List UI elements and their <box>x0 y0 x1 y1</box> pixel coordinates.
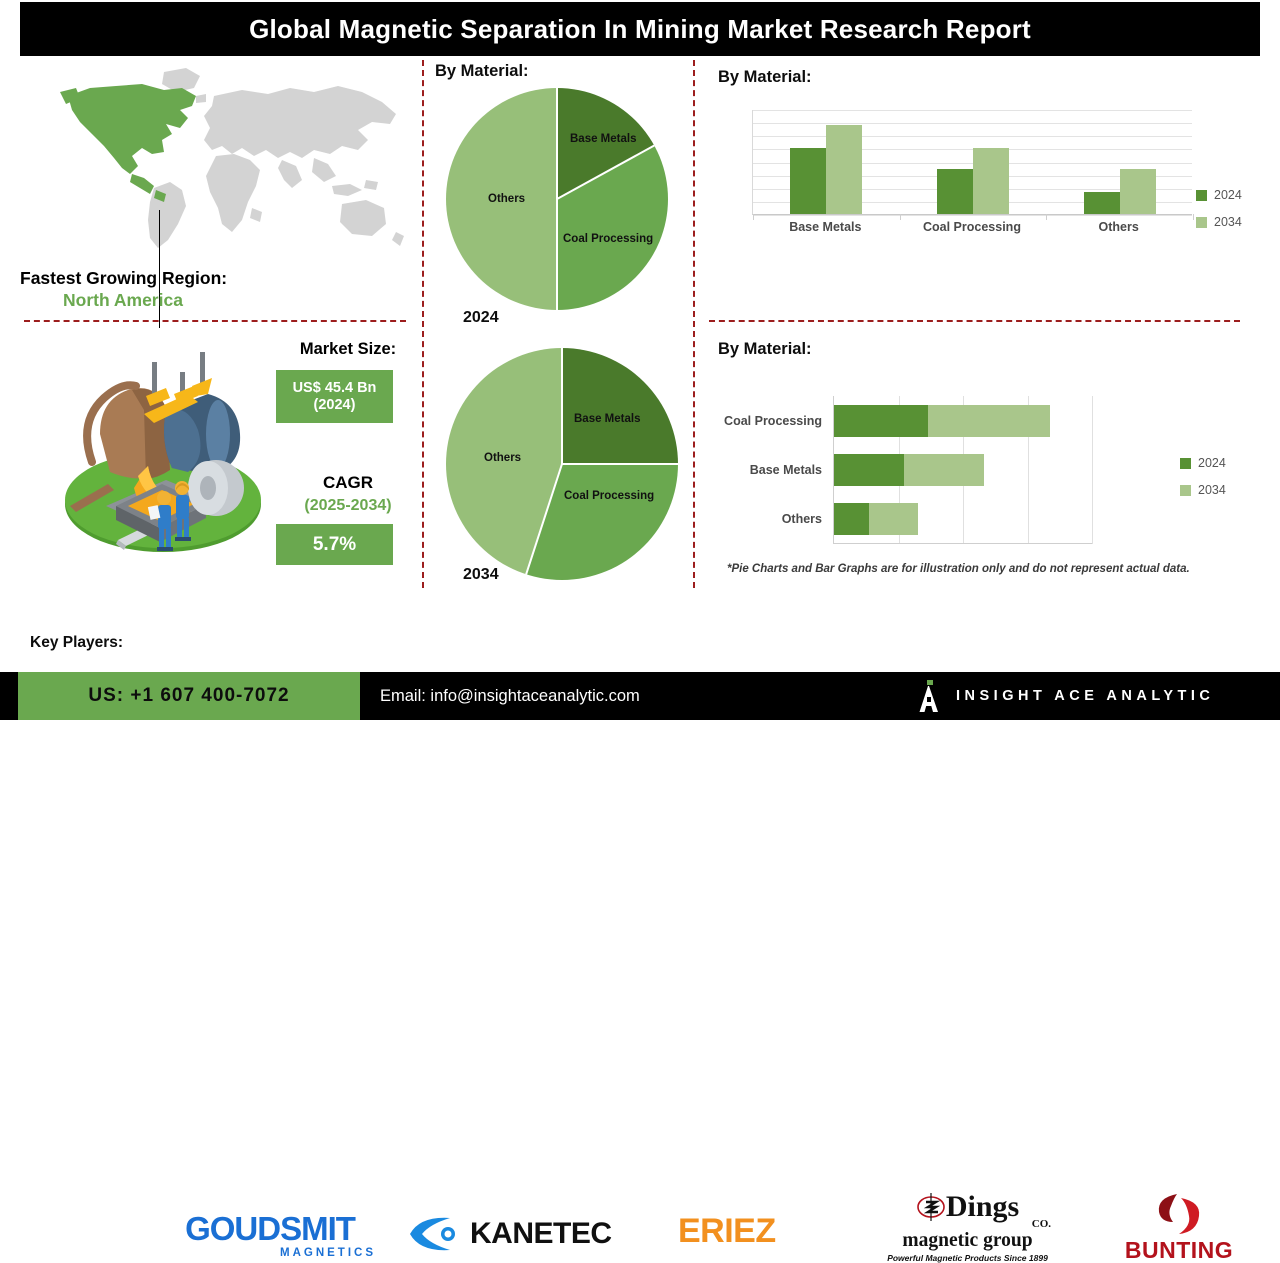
vbar-2034 <box>973 148 1009 214</box>
logo-goudsmit-name: GOUDSMIT <box>185 1212 355 1245</box>
hbar-category-label: Base Metals <box>750 454 834 486</box>
horizontal-bar-chart: Coal ProcessingBase MetalsOthers <box>833 396 1173 544</box>
logo-kanetec[interactable]: KANETEC <box>408 1214 633 1254</box>
hbar-segment-2034 <box>869 503 918 535</box>
logo-dings-name: Dings <box>946 1192 1019 1222</box>
vbar-category-label: Coal Processing <box>899 220 1046 234</box>
hbar-plot-area: Coal ProcessingBase MetalsOthers <box>833 396 1091 544</box>
footer-brand: INSIGHT ACE ANALYTIC <box>918 672 1214 720</box>
market-size-year: (2024) <box>314 397 356 414</box>
logo-dings-tagline: Powerful Magnetic Products Since 1899 <box>887 1253 1048 1263</box>
footer-email[interactable]: Email: info@insightaceanalytic.com <box>380 672 640 720</box>
hbar-segment-2034 <box>928 405 1050 437</box>
vbar-legend: 20242034 <box>1196 188 1242 242</box>
logo-dings-co: CO. <box>1032 1218 1051 1230</box>
pie-chart-2024: Base Metals Coal Processing Others <box>446 88 668 310</box>
market-size-label: Market Size: <box>278 340 418 359</box>
pie-2034-year-label: 2034 <box>463 566 499 584</box>
pie-2034-slice-label-others: Others <box>484 452 521 464</box>
vbar-category-labels: Base MetalsCoal ProcessingOthers <box>752 220 1192 242</box>
logo-eriez-name: ERIEZ <box>678 1214 776 1248</box>
cagr-label: CAGR <box>278 473 418 493</box>
pie-slice-separator <box>556 88 558 199</box>
footer-phone: US: +1 607 400-7072 <box>88 685 289 707</box>
vbar-2024 <box>1084 192 1120 214</box>
hbar-row: Others <box>834 503 918 535</box>
kanetec-swoosh-icon <box>408 1214 470 1254</box>
logo-dings-group: magnetic group <box>902 1231 1032 1251</box>
logo-dings[interactable]: Dings CO. magnetic group Powerful Magnet… <box>870 1192 1065 1263</box>
vbar-axis-tick <box>1193 214 1194 220</box>
fastest-growing-region-label: Fastest Growing Region: <box>20 268 227 289</box>
horizontal-divider-right <box>709 320 1240 322</box>
vbar-2034 <box>826 125 862 214</box>
legend-label-2024: 2024 <box>1214 188 1242 202</box>
vbar-group <box>753 110 900 214</box>
hbar-row: Base Metals <box>834 454 984 486</box>
legend-swatch-2024 <box>1180 458 1191 469</box>
legend-swatch-2024 <box>1196 190 1207 201</box>
pie-2024-slice-label-others: Others <box>488 193 525 205</box>
mining-smelting-illustration <box>48 338 278 568</box>
logo-goudsmit-sub: MAGNETICS <box>280 1247 376 1259</box>
vbar-group <box>900 110 1047 214</box>
vbar-gridline <box>753 215 1192 216</box>
logo-goudsmit[interactable]: GOUDSMIT MAGNETICS <box>160 1212 380 1259</box>
legend-swatch-2034 <box>1180 485 1191 496</box>
pie-slice-separator <box>562 463 678 465</box>
pie-2034-slice-label-coal-processing: Coal Processing <box>564 490 654 502</box>
vbar-section-heading: By Material: <box>718 68 812 87</box>
pie-section-heading: By Material: <box>435 62 529 81</box>
vbar-2024 <box>790 148 826 214</box>
cagr-period: (2025-2034) <box>278 497 418 515</box>
vertical-divider-left <box>422 60 424 588</box>
hbar-segment-2024 <box>834 503 869 535</box>
legend-label-2034: 2034 <box>1198 483 1226 497</box>
dings-magnet-icon <box>916 1192 946 1222</box>
hbar-row: Coal Processing <box>834 405 1050 437</box>
hbar-segment-2024 <box>834 405 928 437</box>
vertical-bar-chart: Base MetalsCoal ProcessingOthers <box>752 110 1192 235</box>
fastest-growing-region-value: North America <box>63 290 183 311</box>
vbar-category-label: Others <box>1045 220 1192 234</box>
hbar-category-label: Others <box>782 503 834 535</box>
pie-chart-2034: Base Metals Coal Processing Others <box>446 348 678 580</box>
logo-bunting-name: BUNTING <box>1125 1239 1233 1262</box>
market-size-value: US$ 45.4 Bn <box>293 380 377 397</box>
legend-swatch-2034 <box>1196 217 1207 228</box>
vbar-2024 <box>937 169 973 214</box>
pie-slice-separator <box>561 348 563 464</box>
pie-2034-slice-label-base-metals: Base Metals <box>574 413 640 425</box>
hbar-category-label: Coal Processing <box>724 405 834 437</box>
pie-2024-year-label: 2024 <box>463 309 499 327</box>
market-size-value-box: US$ 45.4 Bn (2024) <box>276 370 393 423</box>
legend-row: 2034 <box>1196 215 1242 229</box>
legend-label-2034: 2034 <box>1214 215 1242 229</box>
legend-label-2024: 2024 <box>1198 456 1226 470</box>
vbar-2034 <box>1120 169 1156 214</box>
hbar-segment-2034 <box>904 454 984 486</box>
horizontal-divider-left <box>24 320 406 322</box>
pie-slice-separator <box>556 199 558 310</box>
logo-kanetec-name: KANETEC <box>470 1219 612 1249</box>
logo-eriez[interactable]: ERIEZ <box>678 1214 838 1248</box>
footer-phone-box[interactable]: US: +1 607 400-7072 <box>18 672 360 720</box>
cagr-value: 5.7% <box>313 534 356 556</box>
hbar-gridline <box>1092 396 1093 544</box>
vertical-divider-right <box>693 60 695 588</box>
vbar-category-label: Base Metals <box>752 220 899 234</box>
vbar-group <box>1046 110 1193 214</box>
chart-disclaimer-note: *Pie Charts and Bar Graphs are for illus… <box>727 563 1190 575</box>
cagr-value-box: 5.7% <box>276 524 393 565</box>
footer-brand-text: INSIGHT ACE ANALYTIC <box>956 688 1214 704</box>
hbar-axis-line <box>834 543 1092 544</box>
report-title-bar: Global Magnetic Separation In Mining Mar… <box>20 2 1260 56</box>
page-title: Global Magnetic Separation In Mining Mar… <box>249 14 1031 45</box>
legend-row: 2024 <box>1196 188 1242 202</box>
a-monogram-icon <box>918 680 942 712</box>
hbar-legend: 20242034 <box>1180 456 1226 510</box>
footer-bar: US: +1 607 400-7072 Email: info@insighta… <box>0 672 1280 720</box>
legend-row: 2034 <box>1180 483 1226 497</box>
world-map-icon <box>46 62 408 262</box>
key-players-row: GOUDSMIT MAGNETICS KANETEC ERIEZ Dings C… <box>0 594 1280 672</box>
hbar-segment-2024 <box>834 454 904 486</box>
bunting-mark-icon <box>1151 1192 1207 1236</box>
hbar-section-heading: By Material: <box>718 340 812 359</box>
vbar-plot-area <box>752 110 1192 215</box>
legend-row: 2024 <box>1180 456 1226 470</box>
pie-2024-slice-label-coal-processing: Coal Processing <box>563 233 653 245</box>
pie-2024-slice-label-base-metals: Base Metals <box>570 133 636 145</box>
logo-bunting[interactable]: BUNTING <box>1104 1192 1254 1262</box>
